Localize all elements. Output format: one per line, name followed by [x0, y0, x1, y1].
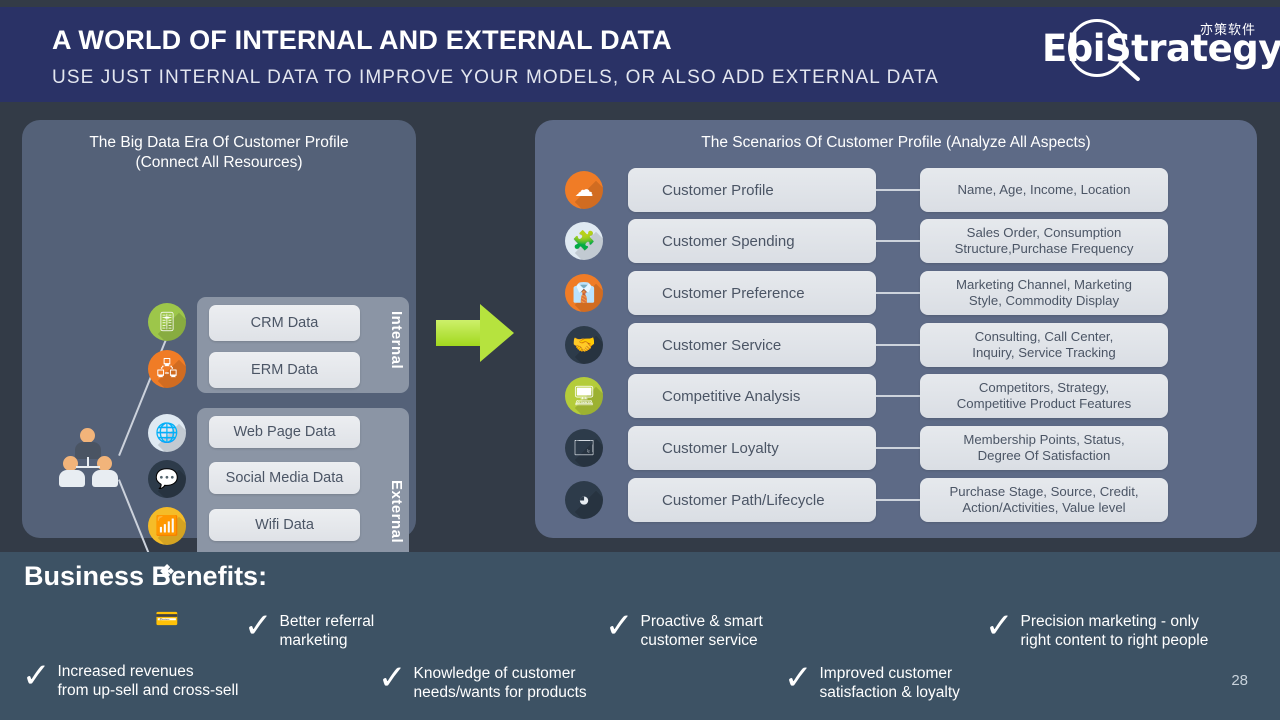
- puzzle-icon: 🧩: [565, 222, 603, 260]
- scenario-connector: [876, 189, 920, 191]
- slide-header: A WORLD OF INTERNAL AND EXTERNAL DATA US…: [0, 7, 1280, 102]
- sliders-icon: 🎚: [148, 303, 186, 341]
- benefit-text: Better referral marketing: [280, 612, 375, 650]
- page-subtitle: USE JUST INTERNAL DATA TO IMPROVE YOUR M…: [52, 67, 939, 89]
- org-chart-icon: 🖧: [148, 350, 186, 388]
- left-item-label: Social Media Data: [226, 470, 344, 486]
- monitor-report-icon: 🖥: [565, 377, 603, 415]
- check-icon: ✓: [784, 664, 813, 692]
- left-item-wifi-data[interactable]: Wifi Data: [209, 509, 360, 541]
- scenario-row: 🖥 Competitive Analysis Competitors, Stra…: [535, 374, 1257, 418]
- chat-bubbles-icon: 💬: [148, 460, 186, 498]
- pie-chart-icon: ◕: [565, 481, 603, 519]
- scenario-label: Customer Loyalty: [662, 440, 779, 457]
- scenario-connector: [876, 240, 920, 242]
- people-network-icon: [60, 428, 116, 488]
- scenario-label: Customer Profile: [662, 182, 774, 199]
- business-benefits-section: Business Benefits: ✓ Better referral mar…: [0, 552, 1280, 720]
- scenario-detail: Consulting, Call Center, Inquiry, Servic…: [972, 329, 1115, 361]
- check-icon: ✓: [22, 662, 51, 690]
- scenario-label: Customer Path/Lifecycle: [662, 492, 825, 509]
- left-panel: The Big Data Era Of Customer Profile (Co…: [22, 120, 416, 538]
- benefit-item: ✓ Precision marketing - only right conte…: [985, 612, 1208, 650]
- scenario-row: 🗔 Customer Loyalty Membership Points, St…: [535, 426, 1257, 470]
- scenario-detail-box[interactable]: Consulting, Call Center, Inquiry, Servic…: [920, 323, 1168, 367]
- left-item-web-page-data[interactable]: Web Page Data: [209, 416, 360, 448]
- scenario-detail-box[interactable]: Membership Points, Status, Degree Of Sat…: [920, 426, 1168, 470]
- scenario-detail-box[interactable]: Sales Order, Consumption Structure,Purch…: [920, 219, 1168, 263]
- scenario-connector: [876, 292, 920, 294]
- scenario-detail-box[interactable]: Name, Age, Income, Location: [920, 168, 1168, 212]
- brand-logo: EbiStrategy 亦策软件: [1042, 15, 1258, 83]
- slide-root: A WORLD OF INTERNAL AND EXTERNAL DATA US…: [0, 0, 1280, 720]
- scenario-detail: Marketing Channel, Marketing Style, Comm…: [956, 277, 1132, 309]
- magnifier-icon: [1068, 19, 1126, 77]
- scenario-row: ◕ Customer Path/Lifecycle Purchase Stage…: [535, 478, 1257, 522]
- check-icon: ✓: [605, 612, 634, 640]
- check-icon: ✓: [378, 664, 407, 692]
- benefit-item: ✓ Better referral marketing: [244, 612, 374, 650]
- scenario-box[interactable]: Customer Profile: [628, 168, 876, 212]
- page-number: 28: [1231, 672, 1248, 689]
- benefit-item: ✓ Knowledge of customer needs/wants for …: [378, 664, 587, 702]
- logo-chinese-text: 亦策软件: [1200, 19, 1256, 38]
- scenario-label: Customer Spending: [662, 233, 795, 250]
- scenario-box[interactable]: Customer Service: [628, 323, 876, 367]
- right-panel: The Scenarios Of Customer Profile (Analy…: [535, 120, 1257, 538]
- left-item-social-media-data[interactable]: Social Media Data: [209, 462, 360, 494]
- benefit-text: Precision marketing - only right content…: [1021, 612, 1209, 650]
- scenario-label: Customer Service: [662, 337, 781, 354]
- scenario-connector: [876, 499, 920, 501]
- scenario-box[interactable]: Customer Loyalty: [628, 426, 876, 470]
- scenario-row: ☁ Customer Profile Name, Age, Income, Lo…: [535, 168, 1257, 212]
- scenario-row: 🧩 Customer Spending Sales Order, Consump…: [535, 219, 1257, 263]
- left-item-label: Wifi Data: [255, 517, 314, 533]
- scenario-connector: [876, 447, 920, 449]
- right-panel-title: The Scenarios Of Customer Profile (Analy…: [535, 133, 1257, 153]
- scenario-box[interactable]: Customer Path/Lifecycle: [628, 478, 876, 522]
- scenario-detail-box[interactable]: Marketing Channel, Marketing Style, Comm…: [920, 271, 1168, 315]
- internal-label: Internal: [388, 311, 405, 369]
- benefit-item: ✓ Increased revenues from up-sell and cr…: [22, 662, 238, 700]
- benefit-text: Improved customer satisfaction & loyalty: [820, 664, 960, 702]
- scenario-label: Customer Preference: [662, 285, 805, 302]
- scenario-detail-box[interactable]: Competitors, Strategy, Competitive Produ…: [920, 374, 1168, 418]
- benefit-item: ✓ Improved customer satisfaction & loyal…: [784, 664, 960, 702]
- benefit-text: Knowledge of customer needs/wants for pr…: [414, 664, 587, 702]
- scenario-detail: Name, Age, Income, Location: [957, 182, 1130, 198]
- business-benefits-title: Business Benefits:: [24, 561, 267, 592]
- router-icon: 📶: [148, 507, 186, 545]
- green-right-arrow: [436, 304, 514, 362]
- scenario-box[interactable]: Customer Preference: [628, 271, 876, 315]
- page-title: A WORLD OF INTERNAL AND EXTERNAL DATA: [52, 25, 672, 56]
- benefit-text: Proactive & smart customer service: [641, 612, 763, 650]
- left-item-label: CRM Data: [251, 315, 319, 331]
- left-item-erm-data[interactable]: ERM Data: [209, 352, 360, 388]
- scenario-row: 🤝 Customer Service Consulting, Call Cent…: [535, 323, 1257, 367]
- scenario-detail-box[interactable]: Purchase Stage, Source, Credit, Action/A…: [920, 478, 1168, 522]
- benefit-item: ✓ Proactive & smart customer service: [605, 612, 763, 650]
- shirt-tie-icon: 👔: [565, 274, 603, 312]
- handshake-icon: 🤝: [565, 326, 603, 364]
- scenario-detail: Membership Points, Status, Degree Of Sat…: [963, 432, 1124, 464]
- check-icon: ✓: [244, 612, 273, 640]
- scenario-detail: Sales Order, Consumption Structure,Purch…: [955, 225, 1134, 257]
- scenario-detail: Purchase Stage, Source, Credit, Action/A…: [949, 484, 1138, 516]
- check-icon: ✓: [985, 612, 1014, 640]
- scenario-box[interactable]: Customer Spending: [628, 219, 876, 263]
- left-item-label: ERM Data: [251, 362, 318, 378]
- left-item-crm-data[interactable]: CRM Data: [209, 305, 360, 341]
- cloud-icon: ☁: [565, 171, 603, 209]
- external-label: External: [388, 480, 405, 543]
- globe-pin-icon: 🌐: [148, 414, 186, 452]
- left-panel-title: The Big Data Era Of Customer Profile (Co…: [22, 133, 416, 173]
- scenario-detail: Competitors, Strategy, Competitive Produ…: [957, 380, 1131, 412]
- scenario-connector: [876, 344, 920, 346]
- scenario-row: 👔 Customer Preference Marketing Channel,…: [535, 271, 1257, 315]
- scenario-box[interactable]: Competitive Analysis: [628, 374, 876, 418]
- browser-gauge-icon: 🗔: [565, 429, 603, 467]
- benefit-text: Increased revenues from up-sell and cros…: [58, 662, 239, 700]
- left-item-label: Web Page Data: [233, 424, 335, 440]
- scenario-connector: [876, 395, 920, 397]
- scenario-label: Competitive Analysis: [662, 388, 800, 405]
